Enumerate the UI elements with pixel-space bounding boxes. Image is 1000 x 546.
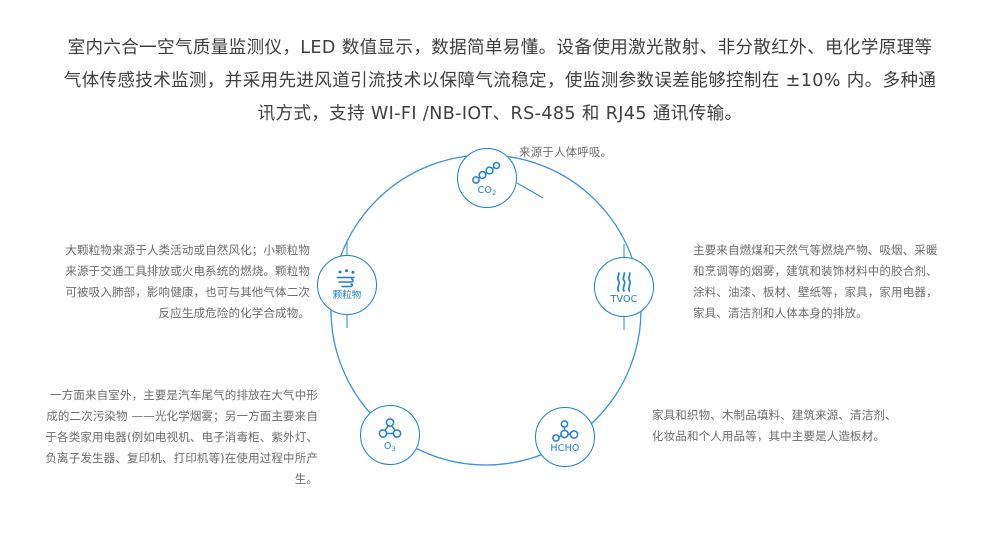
co2-molecule-chain-icon: [472, 161, 502, 185]
description-particulate-matter: 大颗粒物来源于人类活动或自然风化；小颗粒物来源于交通工具排放或火电系统的燃烧。颗…: [58, 240, 310, 324]
description-hcho: 家具和织物、木制品填料、建筑来源、清洁剂、化妆品和个人用品等，其中主要是人造板材…: [652, 405, 902, 447]
node-o3[interactable]: O3: [360, 405, 420, 465]
connector-co2: [517, 183, 543, 198]
node-co2-label: CO2: [478, 186, 497, 196]
node-hcho-label: HCHO: [550, 444, 579, 454]
node-hcho[interactable]: HCHO: [535, 407, 595, 467]
node-o3-label: O3: [384, 442, 396, 452]
page-title: 室内六合一空气质量监测仪，LED 数值显示，数据简单易懂。设备使用激光散射、非分…: [60, 32, 940, 131]
ozone-molecule-icon: [377, 418, 403, 441]
node-tvoc-label: TVOC: [610, 295, 637, 305]
hcho-molecule-icon: [550, 420, 580, 443]
description-tvoc: 主要来自燃煤和天然气等燃烧产物、吸烟、采暖和烹调等的烟雾，建筑和装饰材料中的胶合…: [693, 240, 945, 324]
node-co2[interactable]: CO2: [457, 148, 517, 208]
vapor-waves-icon: [612, 270, 636, 294]
description-o3: 一方面来自室外，主要是汽车尾气的排放在大气中形成的二次污染物 ——光化学烟雾；另…: [42, 385, 318, 490]
particulate-wind-dust-icon: [332, 269, 362, 290]
air-quality-cycle-diagram: CO2 TVOC: [0, 120, 1000, 546]
node-tvoc[interactable]: TVOC: [594, 257, 654, 317]
node-particulate-matter[interactable]: 颗粒物: [317, 255, 377, 315]
description-co2: 来源于人体呼吸。: [519, 142, 719, 163]
node-particulate-matter-label: 颗粒物: [333, 291, 362, 301]
